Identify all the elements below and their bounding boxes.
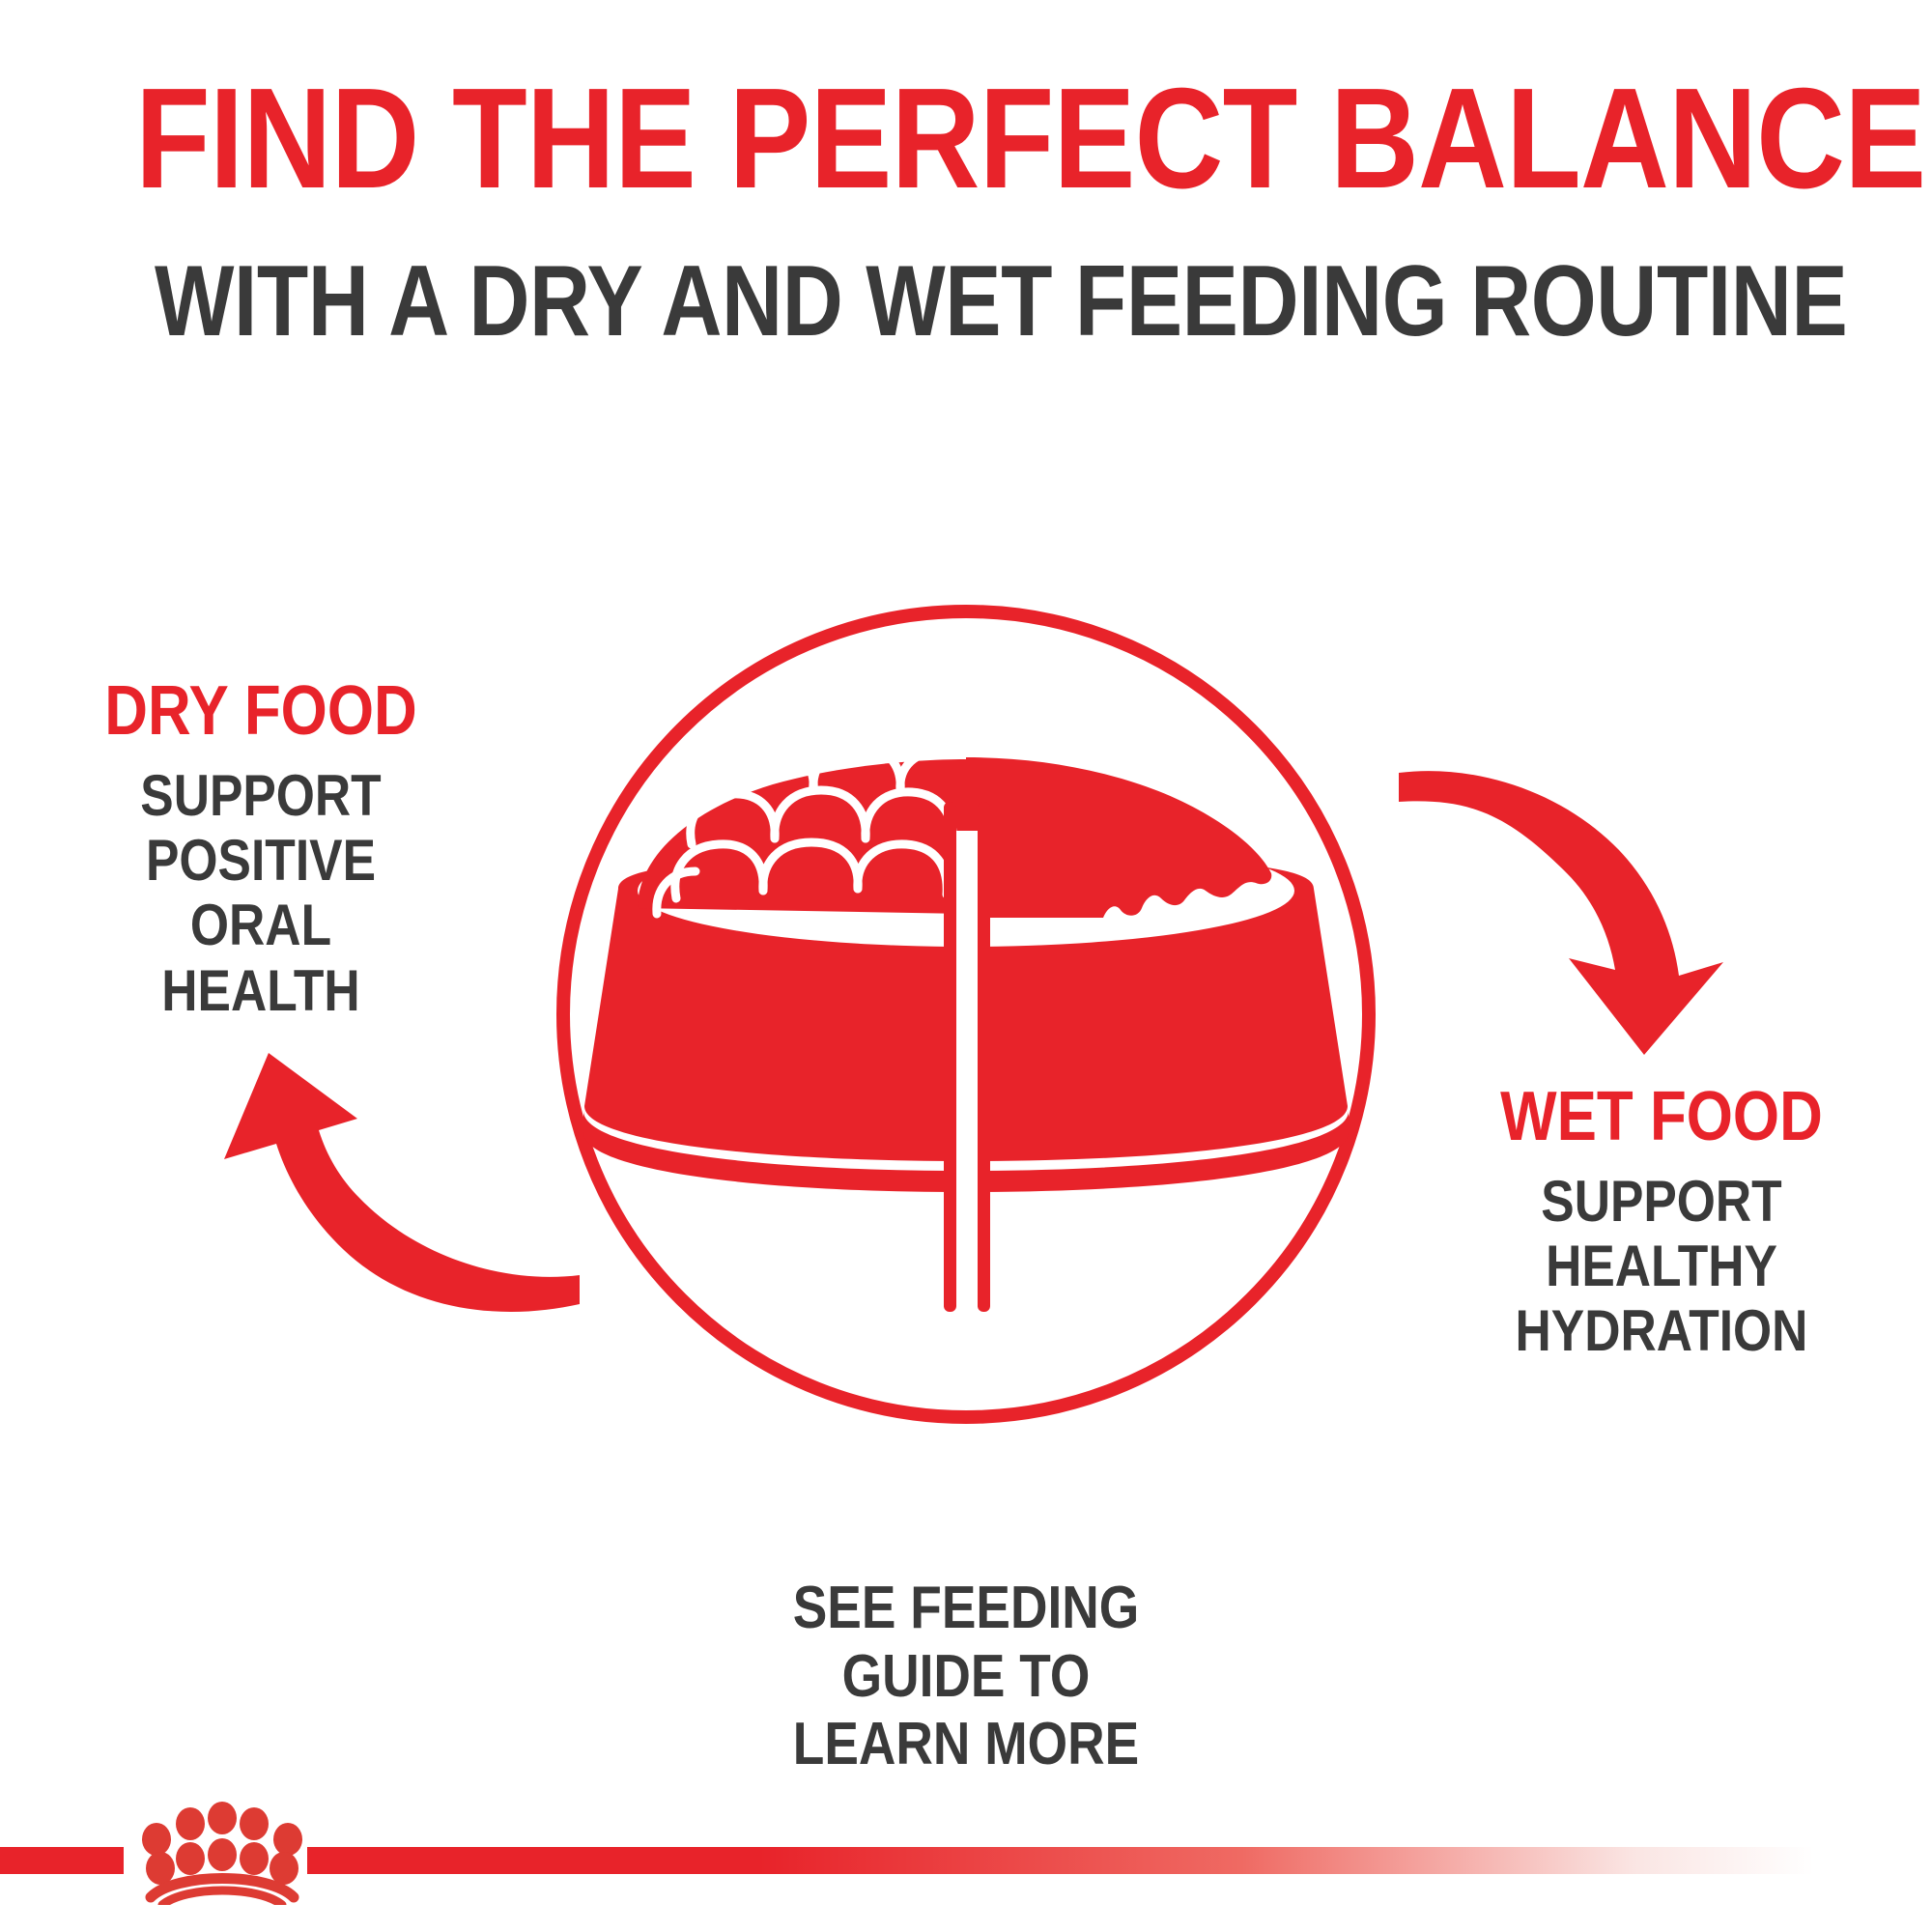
footer-rule-right [307, 1847, 1814, 1874]
dry-food-block: DRY FOOD SUPPORT POSITIVE ORAL HEALTH [39, 676, 483, 1023]
wet-food-body-line-1: SUPPORT HEALTHY [1454, 1169, 1869, 1298]
dry-food-title: DRY FOOD [70, 676, 452, 746]
wet-food-block: WET FOOD SUPPORT HEALTHY HYDRATION [1420, 1082, 1903, 1364]
wet-food-title: WET FOOD [1454, 1082, 1869, 1151]
bowl-body [584, 856, 1348, 1161]
cta-line-1: SEE FEEDING [717, 1575, 1215, 1643]
dry-food-body-line-1: SUPPORT [70, 763, 452, 828]
royal-canin-crown-logo [135, 1789, 309, 1905]
curved-arrow-down-right-icon [1399, 771, 1723, 1055]
bowl-rim-highlight [638, 835, 1294, 947]
divider-gap [956, 831, 978, 1294]
footer-rule-left [0, 1847, 124, 1874]
dry-food-body: SUPPORT POSITIVE ORAL HEALTH [70, 763, 452, 1023]
wet-food-body: SUPPORT HEALTHY HYDRATION [1454, 1169, 1869, 1364]
footer-band [0, 1826, 1932, 1932]
header-block: FIND THE PERFECT BALANCE WITH A DRY AND … [0, 68, 1932, 352]
cta-line-2: GUIDE TO [717, 1643, 1215, 1712]
divider-line-right [978, 802, 990, 1312]
dry-food-body-line-3: HEALTH [70, 958, 452, 1023]
pet-food-bowl-icon [583, 746, 1349, 1312]
wet-food-body-line-2: HYDRATION [1454, 1298, 1869, 1363]
page-title: FIND THE PERFECT BALANCE [135, 68, 1797, 211]
divider-line-left [944, 802, 956, 1312]
dry-kibble-mound [638, 746, 966, 914]
infographic-page: FIND THE PERFECT BALANCE WITH A DRY AND … [0, 0, 1932, 1932]
cta-line-3: LEARN MORE [717, 1711, 1215, 1779]
circle-frame [563, 611, 1369, 1417]
feeding-guide-cta[interactable]: SEE FEEDING GUIDE TO LEARN MORE [676, 1575, 1256, 1779]
bowl-foot [583, 1111, 1349, 1192]
wet-food-mound [966, 757, 1271, 918]
curved-arrow-up-left-icon [224, 1053, 580, 1312]
page-subtitle: WITH A DRY AND WET FEEDING ROUTINE [155, 251, 1777, 352]
dry-food-body-line-2: POSITIVE ORAL [70, 828, 452, 957]
